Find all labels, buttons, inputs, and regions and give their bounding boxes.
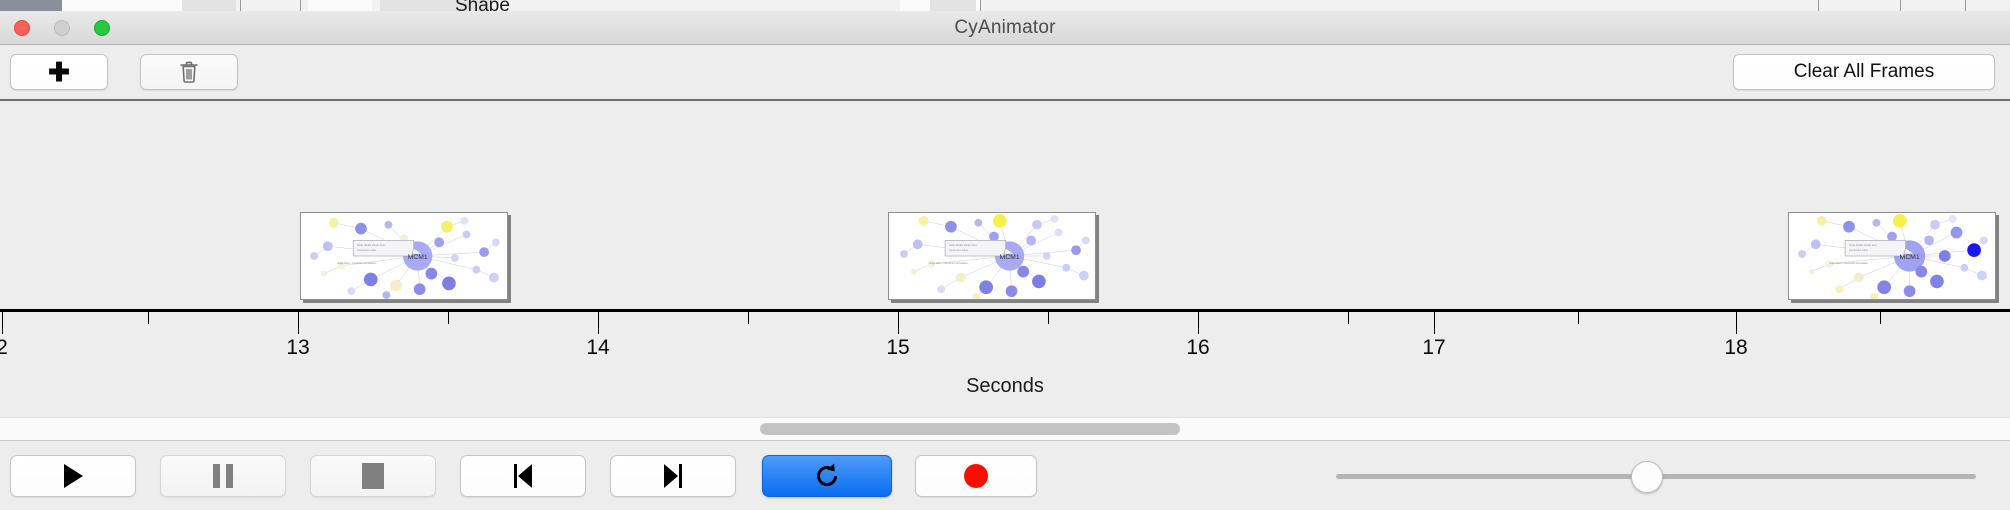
svg-text:Node details shown here: Node details shown here <box>1849 244 1877 247</box>
axis-tick-major <box>598 312 599 334</box>
cyanimator-window: Shape CyAnimator ✚ Clear All Frames <box>0 0 2010 510</box>
network-graph-3: Node details shown here expression value… <box>1789 213 1995 299</box>
svg-text:Edge label - interaction annot: Edge label - interaction annotation <box>338 262 377 265</box>
axis-tick-minor <box>748 312 749 324</box>
loop-icon <box>813 462 841 490</box>
svg-text:MCM1: MCM1 <box>1900 254 1920 261</box>
record-button[interactable] <box>915 455 1037 497</box>
svg-text:Node details shown here: Node details shown here <box>949 244 977 247</box>
add-frame-button[interactable]: ✚ <box>10 54 108 90</box>
axis-tick-label: 16 <box>1186 336 1209 360</box>
background-window-strip: Shape <box>0 0 2010 11</box>
axis-tick-minor <box>1348 312 1349 324</box>
frame-thumbnail-1[interactable]: Node details shown here expression value… <box>300 212 508 300</box>
skip-to-start-button[interactable] <box>460 455 586 497</box>
record-icon <box>964 464 988 488</box>
title-bar: CyAnimator <box>0 11 2010 45</box>
axis-tick-minor <box>448 312 449 324</box>
play-icon <box>64 464 83 488</box>
axis-tick-label: 2 <box>0 336 8 360</box>
play-button[interactable] <box>10 455 136 497</box>
axis-tick-minor <box>1880 312 1881 324</box>
animation-speed-slider-thumb[interactable] <box>1631 461 1663 493</box>
window-title: CyAnimator <box>0 11 2010 45</box>
skip-to-end-button[interactable] <box>610 455 736 497</box>
axis-tick-minor <box>148 312 149 324</box>
pause-icon <box>213 464 233 488</box>
timeline-axis <box>0 309 2010 312</box>
svg-text:MCM1: MCM1 <box>408 254 428 261</box>
stop-icon <box>362 463 384 489</box>
frame-thumbnail-3[interactable]: Node details shown here expression value… <box>1788 212 1996 300</box>
axis-tick-label: 14 <box>586 336 609 360</box>
clear-all-frames-label: Clear All Frames <box>1794 61 1934 83</box>
trash-icon <box>180 61 198 83</box>
svg-text:expression value: expression value <box>949 249 969 252</box>
svg-text:expression value: expression value <box>1849 249 1869 252</box>
axis-tick-major <box>1736 312 1737 334</box>
delete-frame-button[interactable] <box>140 54 238 90</box>
axis-tick-label: 17 <box>1422 336 1445 360</box>
timeline-scrollbar-thumb[interactable] <box>760 423 1180 435</box>
svg-text:Edge label - interaction annot: Edge label - interaction annotation <box>1829 262 1868 265</box>
stop-button[interactable] <box>310 455 436 497</box>
background-window-label: Shape <box>455 0 510 11</box>
axis-tick-label: 18 <box>1724 336 1747 360</box>
svg-text:Edge label - interaction annot: Edge label - interaction annotation <box>929 262 968 265</box>
axis-tick-major <box>1198 312 1199 334</box>
skip-end-icon <box>662 463 684 489</box>
svg-text:expression value: expression value <box>357 249 377 252</box>
axis-tick-minor <box>1578 312 1579 324</box>
axis-tick-major <box>1434 312 1435 334</box>
axis-tick-major <box>2 312 3 334</box>
loop-button[interactable] <box>762 455 892 497</box>
axis-title-seconds: Seconds <box>0 375 2010 398</box>
network-graph-1: Node details shown here expression value… <box>301 213 507 299</box>
axis-tick-major <box>298 312 299 334</box>
pause-button[interactable] <box>160 455 286 497</box>
network-graph-2: Node details shown here expression value… <box>889 213 1095 299</box>
toolbar: ✚ Clear All Frames <box>0 45 2010 99</box>
svg-text:MCM1: MCM1 <box>1000 254 1020 261</box>
axis-tick-label: 15 <box>886 336 909 360</box>
frame-thumbnail-2[interactable]: Node details shown here expression value… <box>888 212 1096 300</box>
axis-tick-major <box>898 312 899 334</box>
clear-all-frames-button[interactable]: Clear All Frames <box>1733 54 1995 90</box>
plus-icon: ✚ <box>48 59 70 85</box>
axis-tick-minor <box>1048 312 1049 324</box>
skip-start-icon <box>512 463 534 489</box>
axis-tick-label: 13 <box>286 336 309 360</box>
svg-text:Node details shown here: Node details shown here <box>357 244 385 247</box>
